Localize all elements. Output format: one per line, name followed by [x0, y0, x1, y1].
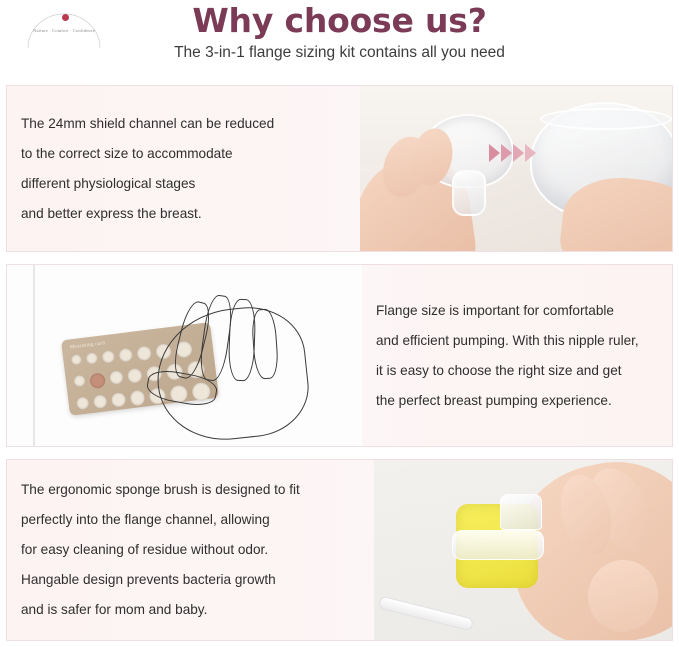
hole — [136, 346, 152, 362]
hole — [93, 394, 107, 408]
panel1-image — [360, 86, 672, 251]
panel3-line-4: Hangable design prevents bacteria growth — [21, 565, 360, 595]
page-subtitle: The 3-in-1 flange sizing kit contains al… — [0, 44, 679, 62]
page-root: Nurture · Comfort · Confidence Why choos… — [0, 0, 679, 647]
hole-highlighted — [89, 372, 106, 389]
hole — [109, 370, 123, 384]
page-title: Why choose us? — [0, 1, 679, 40]
hole — [76, 397, 89, 410]
panel2-line-1: Flange size is important for comfortable — [376, 296, 658, 326]
arrow-icon-4 — [525, 144, 536, 162]
panel3-line-5: and is safer for mom and baby. — [21, 595, 360, 625]
panel2-line-3: it is easy to choose the right size and … — [376, 356, 658, 386]
panel2-image: Measuring card — [7, 265, 362, 446]
arrow-icon-2 — [501, 144, 512, 162]
direction-arrows-icon — [489, 144, 536, 162]
panel2-line-4: the perfect breast pumping experience. — [376, 386, 658, 416]
panel3-line-3: for easy cleaning of residue without odo… — [21, 535, 360, 565]
panel1-line-1: The 24mm shield channel can be reduced — [21, 109, 346, 139]
panel3-line-1: The ergonomic sponge brush is designed t… — [21, 475, 360, 505]
sponge-brush-collar-shape — [452, 530, 544, 560]
hole — [118, 348, 132, 362]
arrow-icon-1 — [489, 144, 500, 162]
feature-panel-flange-channel: The 24mm shield channel can be reduced t… — [6, 85, 673, 252]
hole — [127, 368, 143, 384]
hole — [129, 390, 146, 407]
hole — [102, 350, 115, 363]
hole — [73, 375, 85, 387]
panel1-line-4: and better express the breast. — [21, 199, 346, 229]
measuring-card-label: Measuring card — [70, 341, 106, 350]
flange-neck-shape — [452, 170, 486, 216]
hole — [86, 352, 98, 364]
arrow-icon-3 — [513, 144, 524, 162]
panel2-vertical-line — [33, 265, 35, 446]
hole — [111, 392, 126, 408]
feature-panel-nipple-ruler: Measuring card — [6, 264, 673, 447]
panel3-text-block: The ergonomic sponge brush is designed t… — [7, 460, 374, 640]
panel3-image — [374, 460, 672, 640]
breast-pump-rim-shape — [540, 108, 672, 130]
panel3-line-2: perfectly into the flange channel, allow… — [21, 505, 360, 535]
panel1-text-block: The 24mm shield channel can be reduced t… — [7, 86, 360, 251]
sponge-brush-cap-shape — [500, 494, 542, 530]
panel2-line-2: and efficient pumping. With this nipple … — [376, 326, 658, 356]
hole — [71, 354, 82, 365]
feature-panel-sponge-brush: The ergonomic sponge brush is designed t… — [6, 459, 673, 641]
panel2-text-block: Flange size is important for comfortable… — [362, 265, 672, 446]
panel1-line-2: to the correct size to accommodate — [21, 139, 346, 169]
header: Nurture · Comfort · Confidence Why choos… — [0, 0, 679, 78]
panel1-line-3: different physiological stages — [21, 169, 346, 199]
